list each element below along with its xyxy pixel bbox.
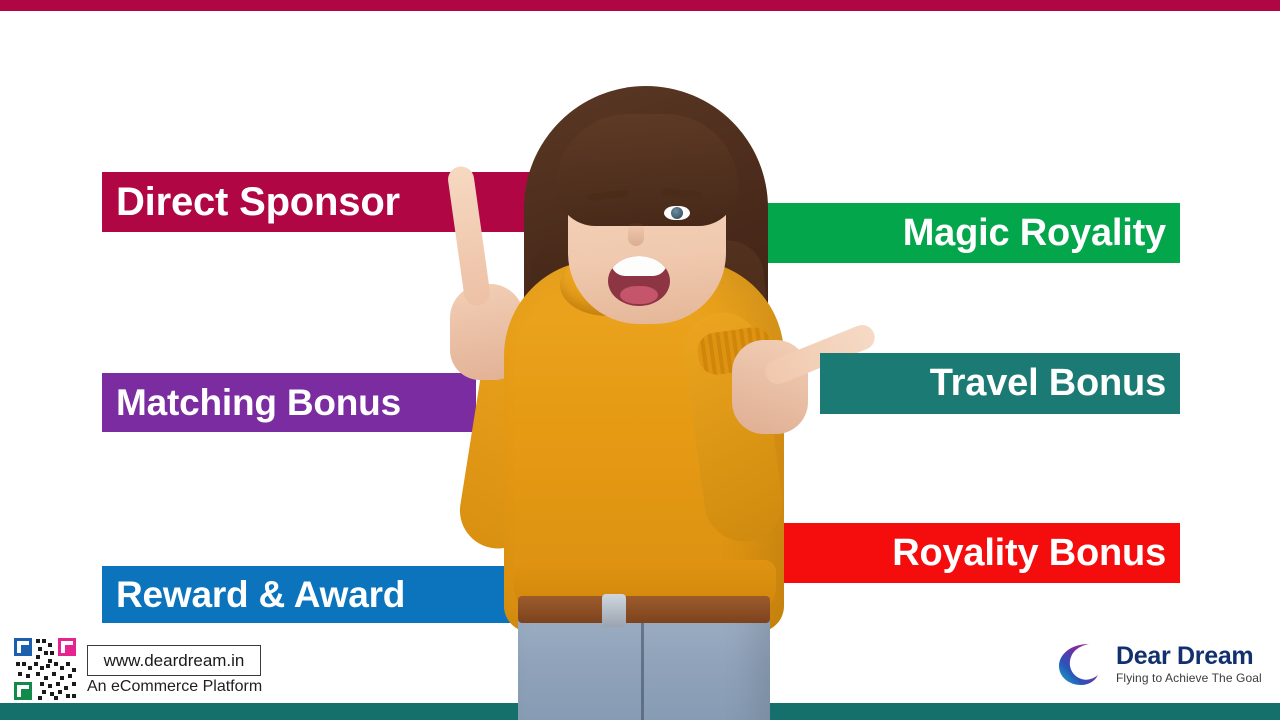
brand-logo: Dear Dream Flying to Achieve The Goal (1056, 641, 1262, 687)
qr-finder-top-left (14, 638, 32, 656)
jeans-seam (641, 622, 644, 720)
qr-code[interactable] (14, 638, 76, 700)
brand-name: Dear Dream (1116, 643, 1262, 670)
slide-canvas: Direct Sponsor Magic Royality Matching B… (0, 0, 1280, 720)
benefit-label: Royality Bonus (892, 532, 1166, 575)
benefit-label: Travel Bonus (930, 362, 1166, 405)
teeth (611, 256, 667, 276)
crescent-moon-logo-icon (1056, 641, 1106, 687)
leather-belt (518, 596, 770, 623)
open-smiling-mouth (608, 256, 670, 306)
benefit-bar-matching-bonus: Matching Bonus (102, 373, 476, 432)
belt-buckle (602, 594, 626, 627)
tongue (620, 286, 658, 304)
website-url-box[interactable]: www.deardream.in (87, 645, 261, 676)
qr-finder-top-right (58, 638, 76, 656)
benefit-label: Matching Bonus (116, 382, 401, 424)
nose (628, 222, 644, 246)
platform-note: An eCommerce Platform (87, 678, 262, 696)
hair-front (556, 114, 738, 226)
benefit-label: Magic Royality (903, 212, 1166, 255)
hero-photo-woman (432, 62, 852, 703)
benefit-label: Direct Sponsor (116, 180, 400, 225)
brand-tagline: Flying to Achieve The Goal (1116, 672, 1262, 685)
qr-finder-bottom-left (14, 682, 32, 700)
benefit-label: Reward & Award (116, 574, 405, 616)
top-accent-bar (0, 0, 1280, 11)
website-url: www.deardream.in (104, 651, 245, 671)
open-eye (664, 206, 690, 220)
iris (671, 207, 683, 219)
benefit-bar-travel-bonus: Travel Bonus (820, 353, 1180, 414)
left-pointing-finger (446, 165, 491, 307)
brand-text: Dear Dream Flying to Achieve The Goal (1116, 643, 1262, 685)
